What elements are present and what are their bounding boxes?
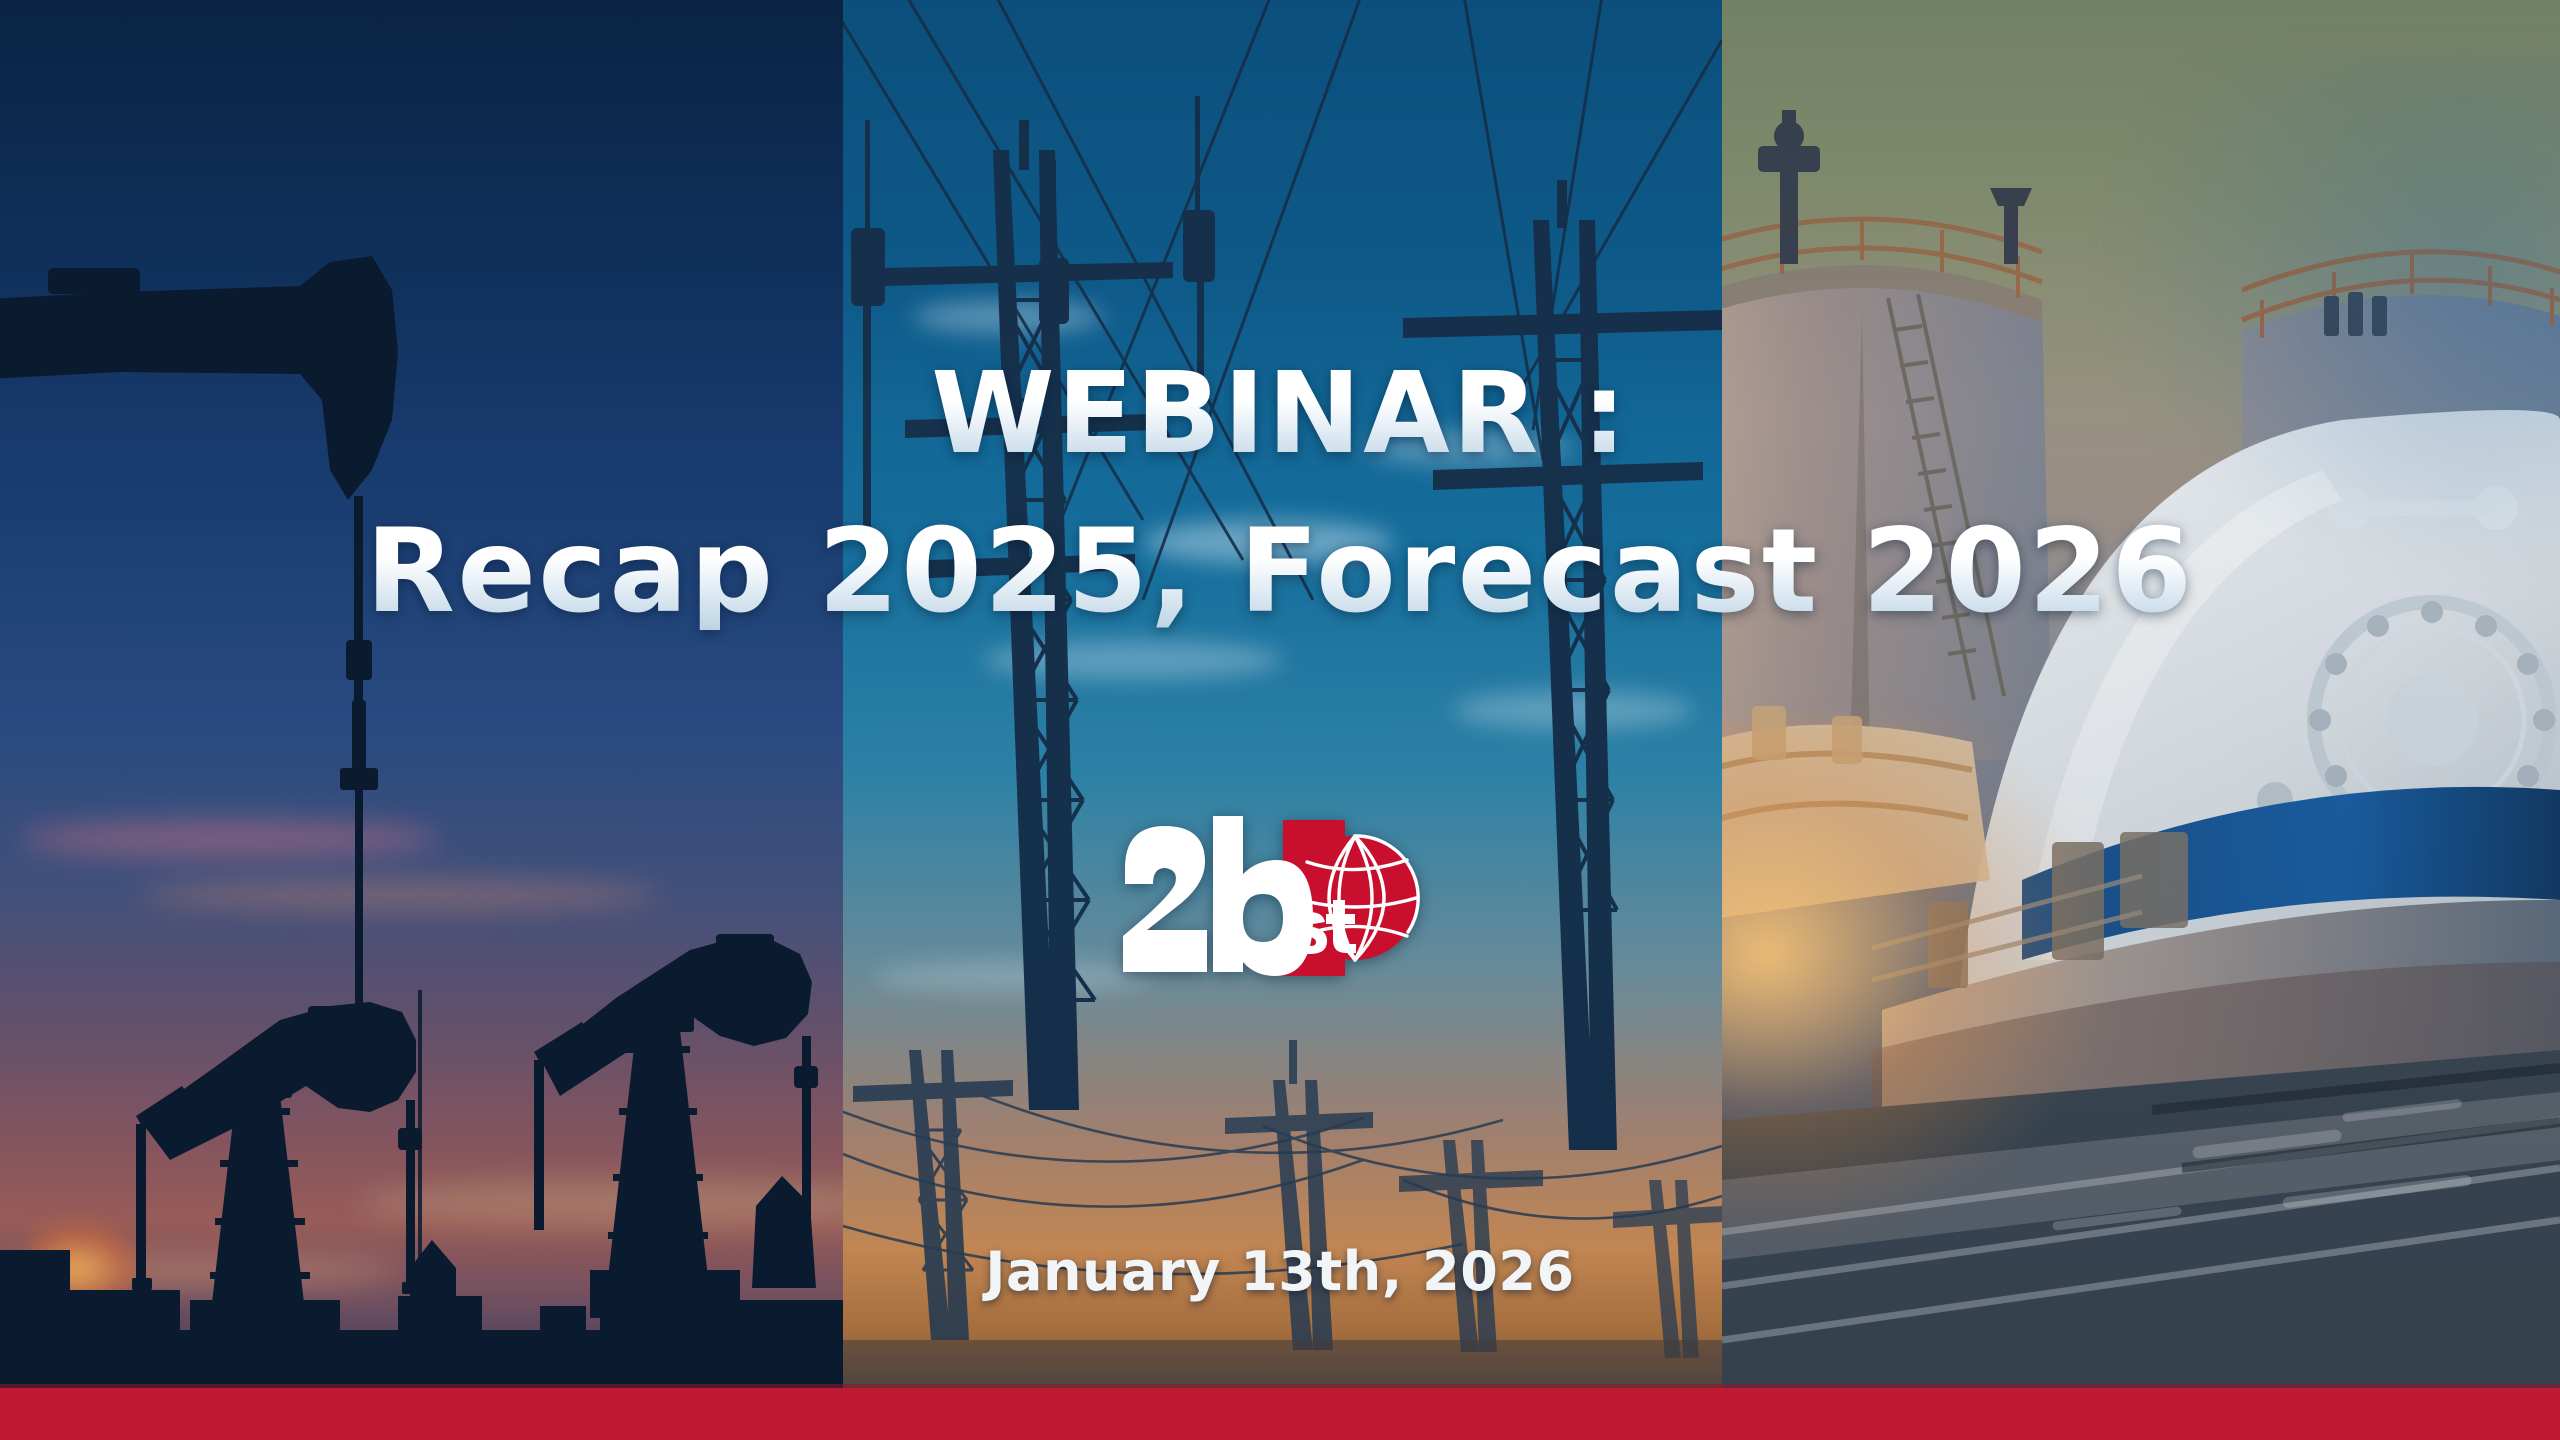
oil-field-panel [0,0,843,1388]
panel-strip [0,0,2560,1388]
webinar-banner: WEBINAR : Recap 2025, Forecast 2026 [0,0,2560,1440]
storage-tank-and-railcar [1722,0,2560,1388]
power-grid-panel [843,0,1722,1388]
pumpjack-silhouettes [0,0,843,1388]
transmission-tower-silhouettes [843,0,1722,1388]
accent-bar [0,1388,2560,1440]
gas-storage-rail-panel [1722,0,2560,1388]
